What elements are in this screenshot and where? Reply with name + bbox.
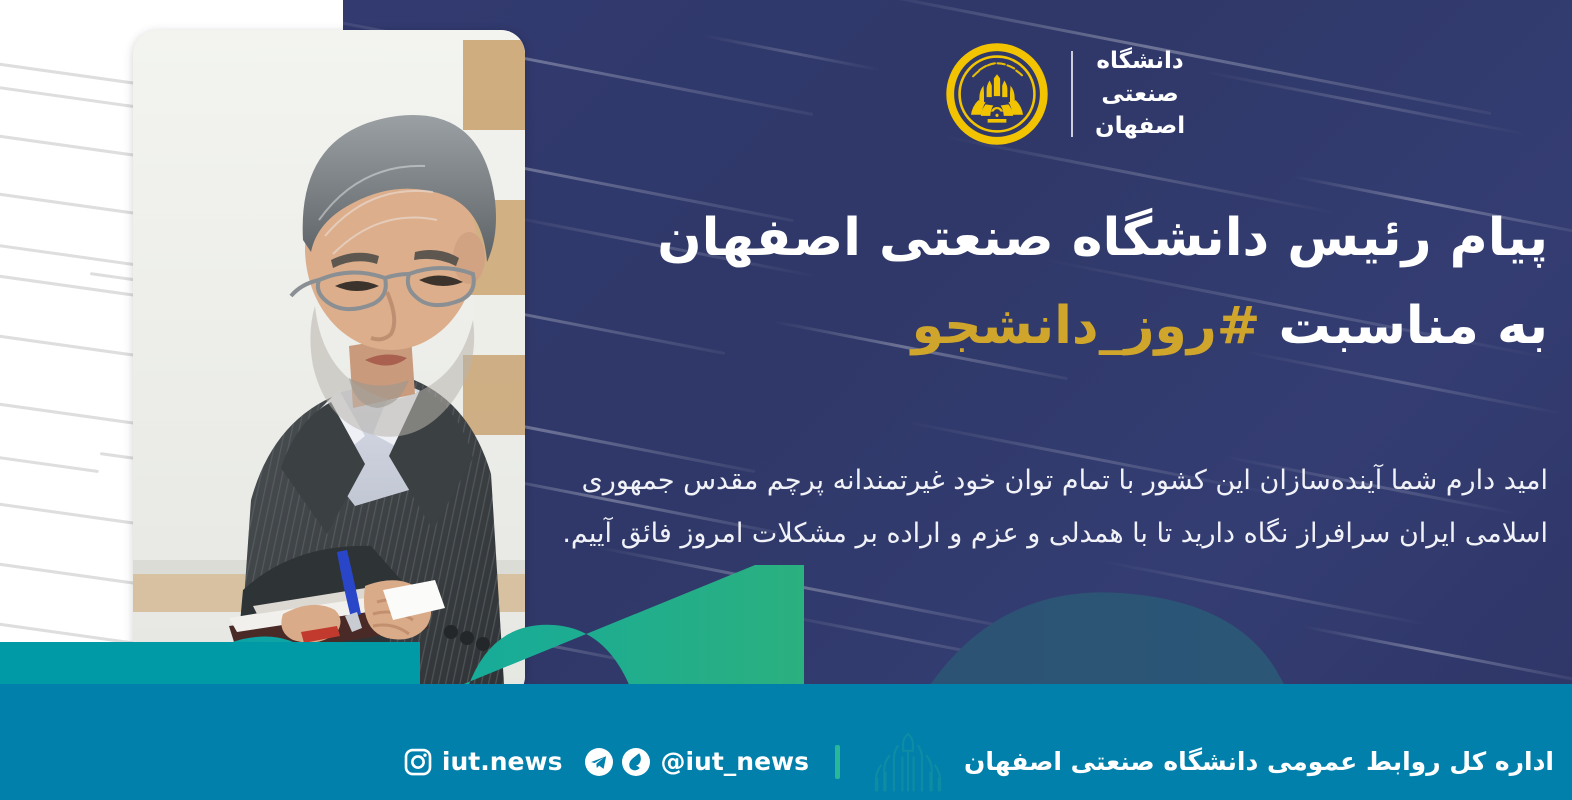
- logo-divider: [1071, 51, 1073, 137]
- diagonal-streak-decor: [703, 34, 880, 71]
- footer-org-group: اداره کل روابط عمومی دانشگاه صنعتی اصفها…: [866, 731, 1554, 793]
- social-link-instagram[interactable]: iut.news: [403, 747, 563, 777]
- instagram-icon[interactable]: [403, 747, 433, 777]
- mosque-building-watermark-icon: [866, 731, 950, 793]
- social-links-group: iut.news @iut_news: [403, 747, 809, 777]
- social-link-eitaa[interactable]: @iut_news: [621, 747, 809, 777]
- logo-word-line-3: اصفهان: [1095, 110, 1185, 143]
- logo-wordmark: دانشگاه صنعتی اصفهان: [1095, 45, 1185, 143]
- footer-divider: [835, 745, 840, 779]
- hairline-decor: [0, 452, 99, 473]
- diagonal-streak-decor: [1203, 70, 1528, 136]
- hairline-decor: [0, 82, 139, 109]
- poster-canvas: دانشگاه صنعتی اصفهان پیام رئیس دانشگاه ص…: [0, 0, 1572, 800]
- eitaa-icon[interactable]: [621, 747, 651, 777]
- telegram-icon[interactable]: [584, 747, 614, 777]
- headline-line-1: پیام رئیس دانشگاه صنعتی اصفهان: [548, 206, 1548, 272]
- iut-gear-emblem-icon: [945, 42, 1049, 146]
- logo-word-line-2: صنعتی: [1095, 78, 1185, 111]
- headline-block: پیام رئیس دانشگاه صنعتی اصفهان به مناسبت…: [548, 206, 1548, 359]
- headline-line-2: به مناسبت #روز_دانشجو: [548, 294, 1548, 360]
- social-link-telegram[interactable]: [584, 747, 614, 777]
- message-paragraph: امید دارم شما آینده‌سازان این کشور با تم…: [548, 455, 1548, 560]
- headline-hashtag: #روز_دانشجو: [912, 296, 1261, 356]
- university-logo-lockup: دانشگاه صنعتی اصفهان: [945, 32, 1180, 156]
- social-handle-eitaa[interactable]: @iut_news: [660, 747, 809, 776]
- social-handle-instagram[interactable]: iut.news: [442, 747, 563, 776]
- footer-bar: اداره کل روابط عمومی دانشگاه صنعتی اصفها…: [0, 723, 1572, 800]
- headline-line-2-prefix: به مناسبت: [1260, 296, 1548, 356]
- logo-word-line-1: دانشگاه: [1095, 45, 1185, 78]
- footer-org-name: اداره کل روابط عمومی دانشگاه صنعتی اصفها…: [964, 747, 1554, 776]
- hairline-decor: [0, 240, 148, 268]
- diagonal-streak-decor: [1243, 350, 1568, 416]
